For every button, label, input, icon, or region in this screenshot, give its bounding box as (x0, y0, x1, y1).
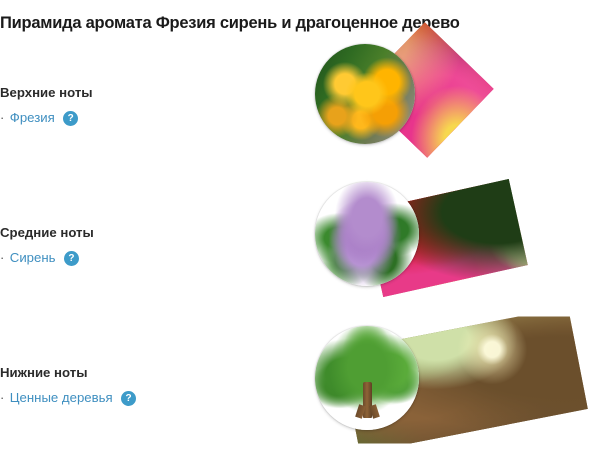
tree-trunk-shape (363, 382, 372, 418)
photo-fill (315, 44, 415, 144)
note-link-freesia[interactable]: Фрезия (10, 110, 55, 125)
page-title: Пирамида аромата Фрезия сирень и драгоце… (0, 12, 600, 34)
note-item-list: · Ценные деревья ? (0, 388, 300, 408)
freesia-photo (315, 44, 415, 144)
note-heading-middle: Средние ноты (0, 224, 300, 242)
help-badge-icon[interactable]: ? (64, 251, 79, 266)
help-badge-icon[interactable]: ? (121, 391, 136, 406)
note-item: · Ценные деревья ? (0, 388, 136, 408)
note-imagery-base (300, 314, 600, 454)
note-row: Верхние ноты · Фрезия ? (0, 34, 600, 174)
note-imagery-middle (300, 174, 600, 314)
help-badge-icon[interactable]: ? (63, 111, 78, 126)
note-link-precious-woods[interactable]: Ценные деревья (10, 390, 113, 405)
note-item-list: · Сирень ? (0, 248, 300, 268)
note-text-block: Средние ноты · Сирень ? (0, 224, 300, 268)
bullet-marker: · (0, 250, 4, 265)
note-imagery-top (300, 34, 600, 174)
tree-illustration (315, 326, 419, 430)
note-link-lilac[interactable]: Сирень (10, 250, 56, 265)
note-item: · Фрезия ? (0, 108, 78, 128)
fragrance-pyramid: Верхние ноты · Фрезия ? Средние ноты (0, 34, 600, 455)
note-row: Средние ноты · Сирень ? (0, 174, 600, 314)
note-text-block: Верхние ноты · Фрезия ? (0, 84, 300, 128)
lilac-photo (315, 182, 419, 286)
bullet-marker: · (0, 390, 4, 405)
note-item: · Сирень ? (0, 248, 79, 268)
note-row: Нижние ноты · Ценные деревья ? (0, 314, 600, 454)
note-heading-base: Нижние ноты (0, 364, 300, 382)
note-text-block: Нижние ноты · Ценные деревья ? (0, 364, 300, 408)
photo-fill (315, 182, 419, 286)
bullet-marker: · (0, 110, 4, 125)
note-item-list: · Фрезия ? (0, 108, 300, 128)
note-heading-top: Верхние ноты (0, 84, 300, 102)
